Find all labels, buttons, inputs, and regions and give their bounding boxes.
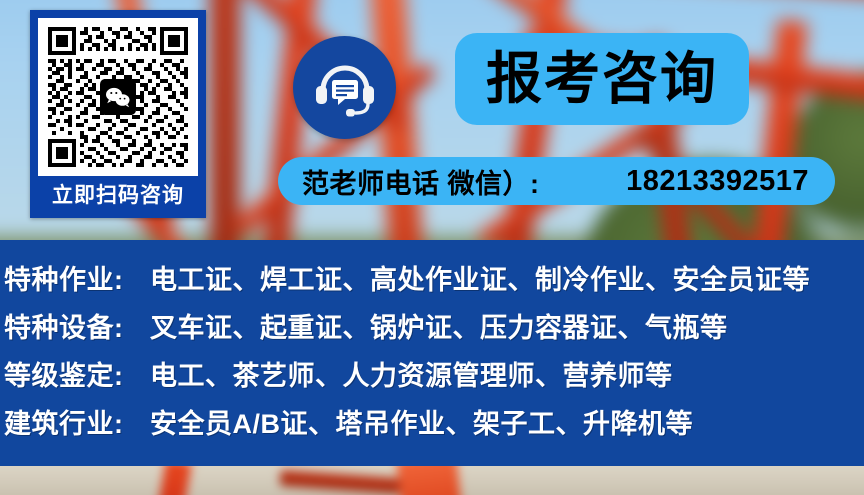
contact-phone-number[interactable]: 18213392517 (626, 165, 809, 198)
wechat-icon (100, 79, 136, 115)
service-row-label: 建筑行业: (4, 402, 150, 441)
service-row-items: 安全员A/B证、塔吊作业、架子工、升降机等 (150, 402, 693, 441)
title-pill: 报考咨询 (455, 33, 749, 125)
contact-label: 范老师电话 微信）: (302, 162, 540, 201)
service-row-construction-industry: 建筑行业: 安全员A/B证、塔吊作业、架子工、升降机等 (4, 402, 864, 450)
crane-beam (396, 466, 464, 495)
qr-code-area[interactable] (38, 18, 198, 176)
services-panel: 特种作业: 电工证、焊工证、高处作业证、制冷作业、安全员证等 特种设备: 叉车证… (0, 240, 864, 466)
service-row-special-operations: 特种作业: 电工证、焊工证、高处作业证、制冷作业、安全员证等 (4, 258, 864, 306)
service-row-items: 电工、茶艺师、人力资源管理师、营养师等 (150, 354, 673, 393)
service-row-label: 等级鉴定: (4, 354, 150, 393)
service-row-items: 电工证、焊工证、高处作业证、制冷作业、安全员证等 (150, 258, 810, 297)
bottom-photo-strip (0, 466, 864, 495)
crane-beam (210, 0, 240, 280)
service-row-items: 叉车证、起重证、锅炉证、压力容器证、气瓶等 (150, 306, 728, 345)
qr-card[interactable]: 立即扫码咨询 (30, 10, 206, 218)
qr-caption: 立即扫码咨询 (52, 176, 184, 215)
service-row-grade-appraisal: 等级鉴定: 电工、茶艺师、人力资源管理师、营养师等 (4, 354, 864, 402)
contact-pill[interactable]: 范老师电话 微信）: 18213392517 (278, 157, 835, 205)
promo-poster: 立即扫码咨询 报考咨询 范老师电话 微信）: 18213392517 (0, 0, 864, 495)
headset-support-icon[interactable] (293, 36, 396, 139)
page-title: 报考咨询 (486, 51, 718, 107)
service-row-special-equipment: 特种设备: 叉车证、起重证、锅炉证、压力容器证、气瓶等 (4, 306, 864, 354)
service-row-label: 特种作业: (4, 258, 150, 297)
bottom-strip-blur-layer (0, 466, 864, 495)
service-row-label: 特种设备: (4, 306, 150, 345)
